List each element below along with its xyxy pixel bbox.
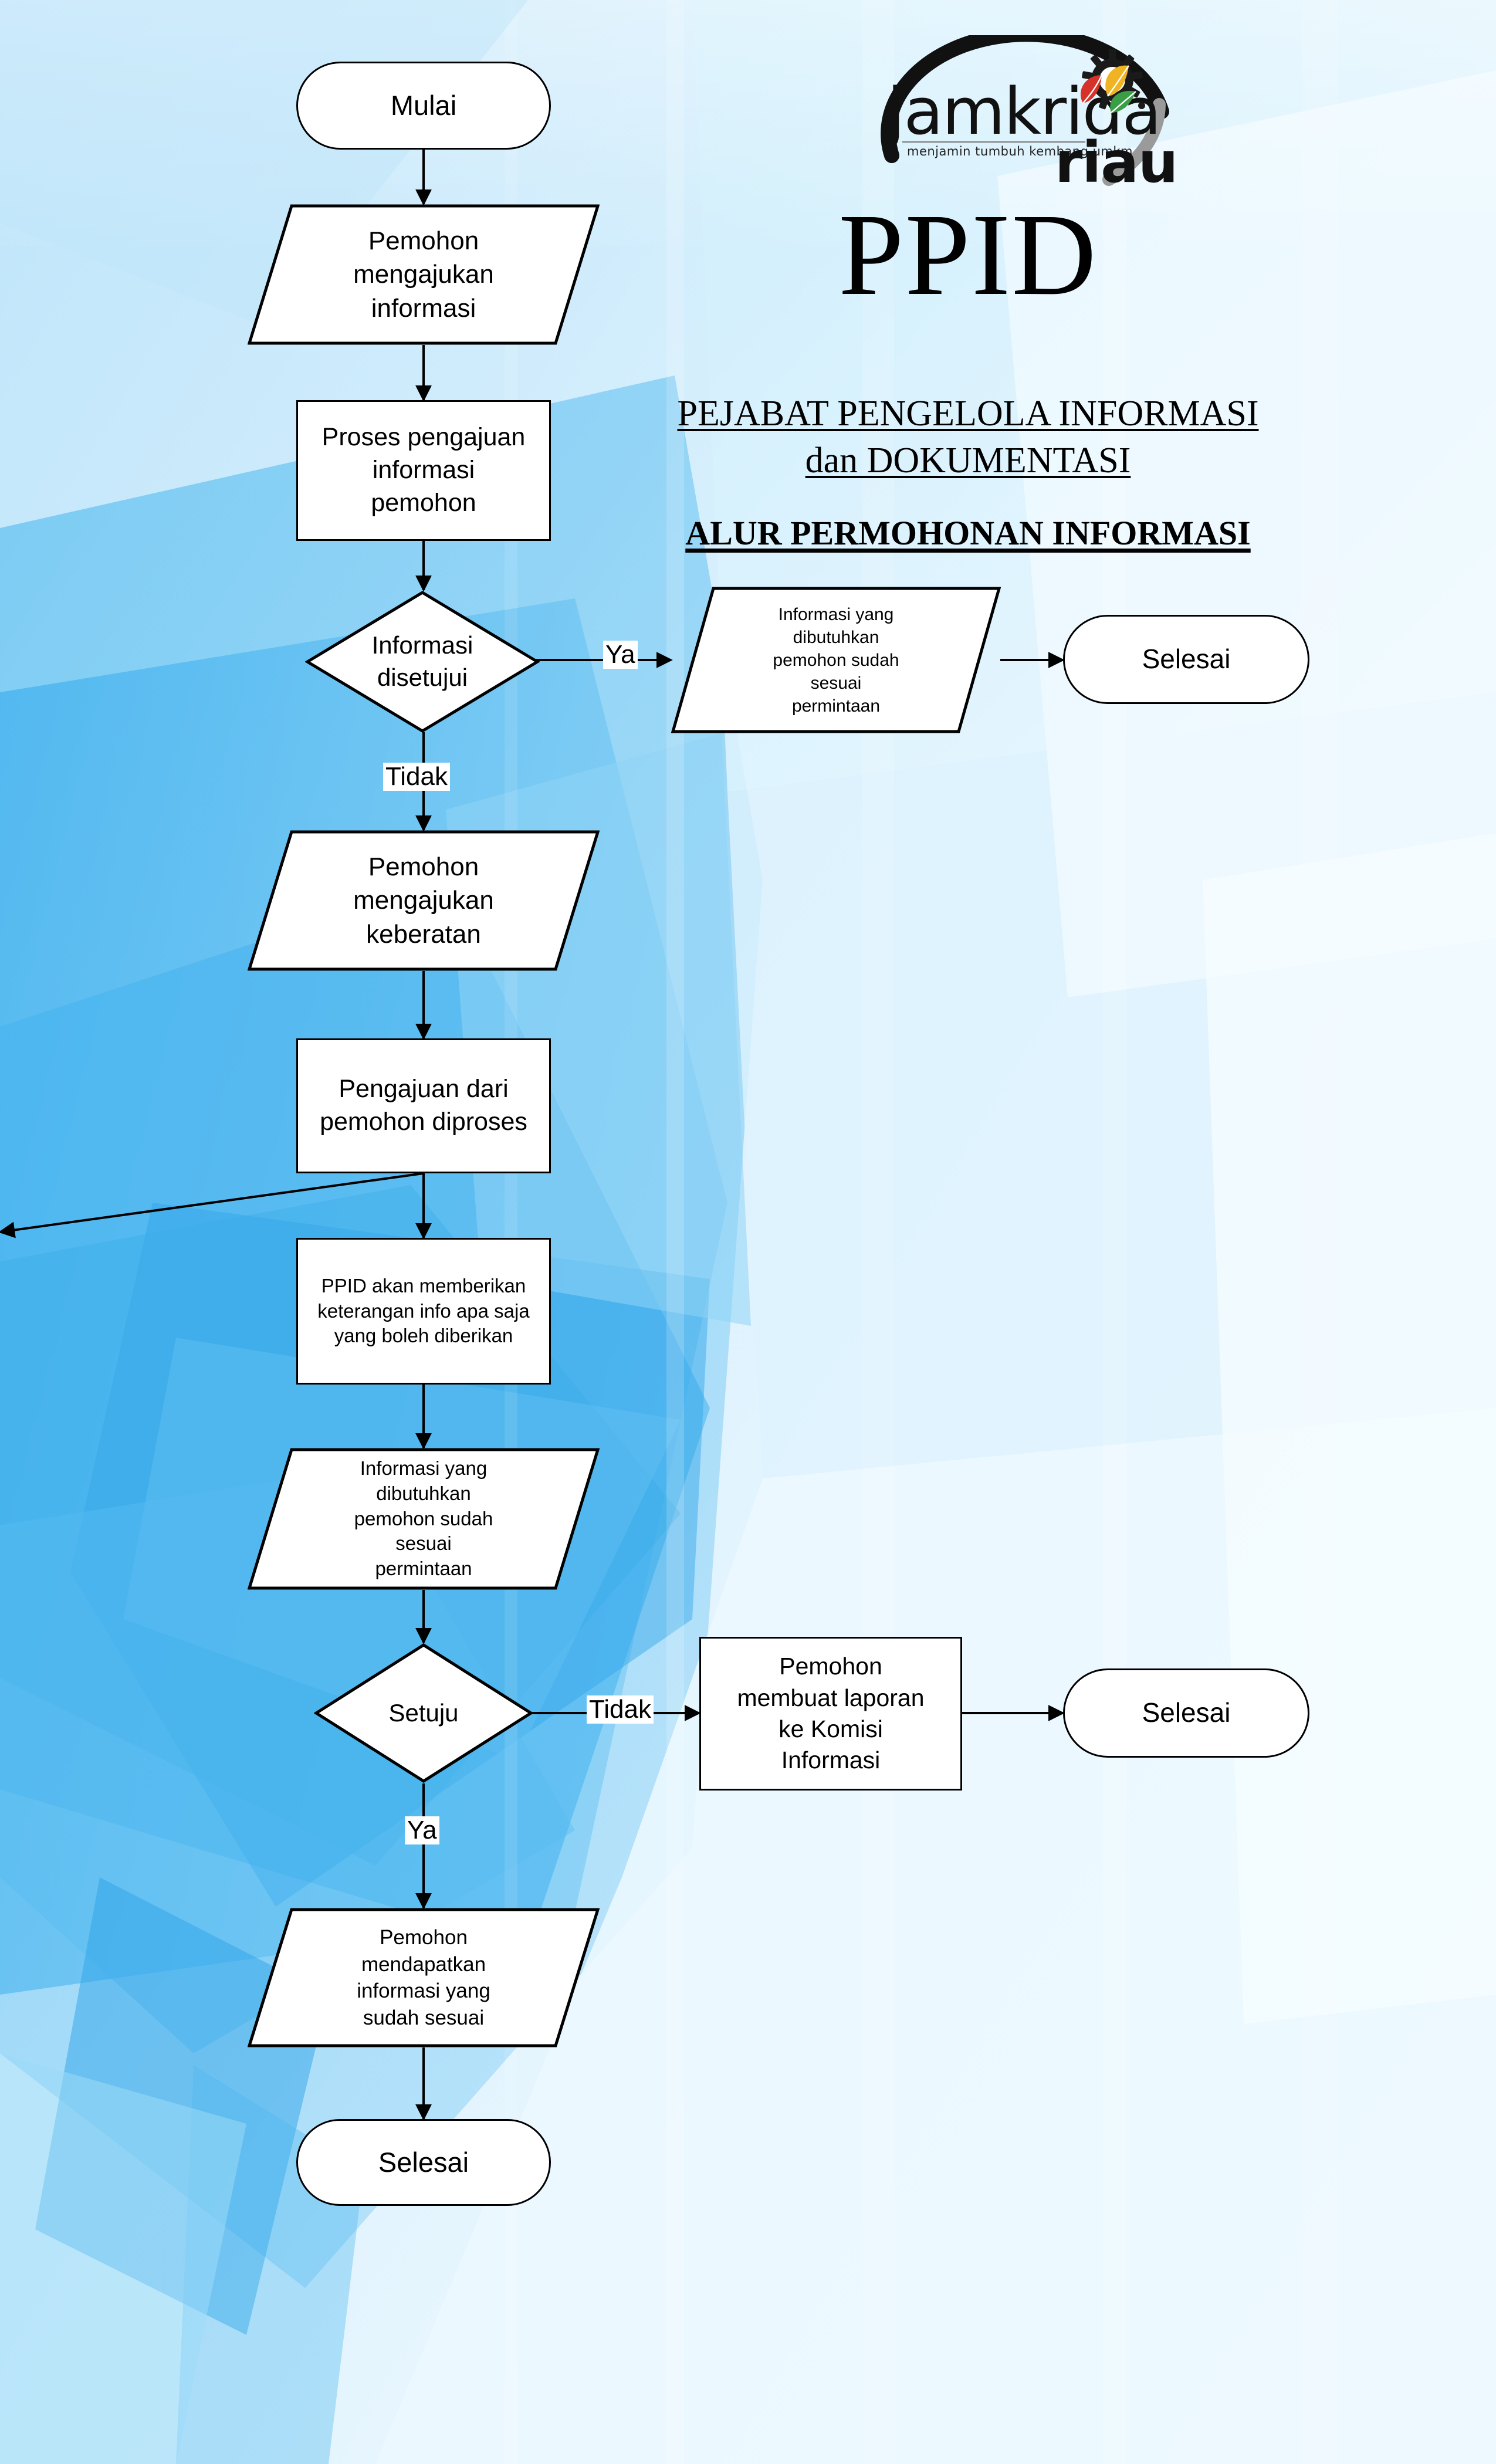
- node-proses-pengajuan-label: Proses pengajuan informasi pemohon: [298, 421, 549, 520]
- svg-text:riau: riau: [1055, 130, 1177, 188]
- node-pemohon-mengajukan-keberatan[interactable]: Pemohon mengajukan keberatan: [248, 830, 600, 971]
- node-pemohon-mengajukan-informasi-label: Pemohon mengajukan informasi: [248, 204, 600, 345]
- node-ppid-memberikan-keterangan[interactable]: PPID akan memberikan keterangan info apa…: [296, 1238, 551, 1385]
- node-laporan-komisi-informasi-label: Pemohon membuat laporan ke Komisi Inform…: [701, 1651, 960, 1776]
- node-selesai-bottom[interactable]: Selesai: [296, 2119, 551, 2206]
- node-laporan-komisi-informasi[interactable]: Pemohon membuat laporan ke Komisi Inform…: [699, 1637, 962, 1791]
- node-pemohon-mendapatkan-informasi[interactable]: Pemohon mendapatkan informasi yang sudah…: [248, 1908, 600, 2047]
- node-informasi-sesuai-permintaan-top-label: Informasi yang dibutuhkan pemohon sudah …: [671, 587, 1001, 733]
- node-selesai-bottom-label: Selesai: [298, 2144, 549, 2180]
- edge-label-tidak-bottom: Tidak: [587, 1695, 654, 1724]
- edge-label-ya-top: Ya: [603, 641, 638, 669]
- node-pengajuan-diproses-label: Pengajuan dari pemohon diproses: [298, 1073, 549, 1139]
- node-pemohon-mengajukan-informasi[interactable]: Pemohon mengajukan informasi: [248, 204, 600, 345]
- subtitle-line-2: dan DOKUMENTASI: [575, 440, 1361, 482]
- node-pemohon-mengajukan-keberatan-label: Pemohon mengajukan keberatan: [248, 830, 600, 971]
- page-title: PPID: [704, 194, 1232, 317]
- node-informasi-disetujui[interactable]: Informasi disetujui: [305, 590, 540, 733]
- node-informasi-disetujui-label: Informasi disetujui: [305, 590, 540, 733]
- node-mulai-label: Mulai: [298, 87, 549, 123]
- node-pemohon-mendapatkan-informasi-label: Pemohon mendapatkan informasi yang sudah…: [248, 1908, 600, 2047]
- subtitle-line-1: PEJABAT PENGELOLA INFORMASI: [575, 393, 1361, 435]
- background-abstract-blue: [0, 0, 1496, 2464]
- flowchart-page: jamkrida menjamin tumbuh kembang umkm ri…: [0, 0, 1496, 2464]
- node-mulai[interactable]: Mulai: [296, 62, 551, 150]
- edge-label-tidak-top: Tidak: [383, 763, 450, 791]
- node-setuju[interactable]: Setuju: [314, 1643, 533, 1783]
- subtitle-line-3: ALUR PERMOHONAN INFORMASI: [575, 513, 1361, 553]
- edge-label-ya-bottom: Ya: [405, 1816, 439, 1844]
- node-pengajuan-diproses[interactable]: Pengajuan dari pemohon diproses: [296, 1038, 551, 1173]
- node-informasi-sesuai-permintaan-mid[interactable]: Informasi yang dibutuhkan pemohon sudah …: [248, 1448, 600, 1590]
- node-selesai-top[interactable]: Selesai: [1063, 615, 1309, 704]
- node-selesai-mid-label: Selesai: [1065, 1695, 1308, 1731]
- jamkrida-riau-logo: jamkrida menjamin tumbuh kembang umkm ri…: [833, 35, 1209, 188]
- node-informasi-sesuai-permintaan-top[interactable]: Informasi yang dibutuhkan pemohon sudah …: [671, 587, 1001, 733]
- node-ppid-memberikan-keterangan-label: PPID akan memberikan keterangan info apa…: [298, 1274, 549, 1349]
- node-proses-pengajuan[interactable]: Proses pengajuan informasi pemohon: [296, 400, 551, 541]
- node-setuju-label: Setuju: [314, 1643, 533, 1783]
- node-informasi-sesuai-permintaan-mid-label: Informasi yang dibutuhkan pemohon sudah …: [248, 1448, 600, 1590]
- node-selesai-mid[interactable]: Selesai: [1063, 1668, 1309, 1758]
- node-selesai-top-label: Selesai: [1065, 642, 1308, 677]
